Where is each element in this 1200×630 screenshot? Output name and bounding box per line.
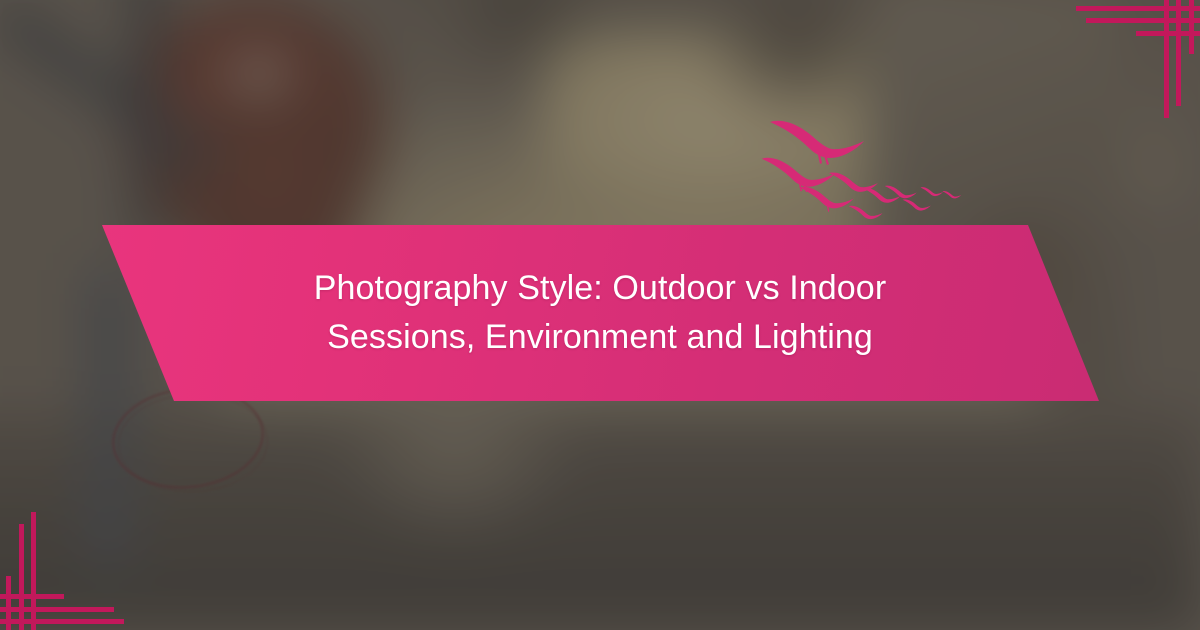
corner-lines-top-right [1060,0,1200,118]
banner-parallelogram [0,225,1200,401]
title-banner: Photography Style: Outdoor vs Indoor Ses… [0,225,1200,401]
bird-icon [885,186,917,199]
deco-line-v3 [1189,0,1194,54]
corner-lines-bottom-left [0,512,140,630]
bird-icon [770,121,864,165]
bird-icon [942,191,961,198]
bird-icon [799,187,854,212]
deco-line-v1 [31,512,36,630]
bird-icon [920,187,943,196]
deco-line-h1 [1076,6,1200,11]
bird-icon [903,199,931,210]
deco-line-h2 [1086,18,1200,23]
deco-line-v1 [1164,0,1169,118]
bird-icon [849,206,883,219]
bird-icon [762,158,835,193]
deco-line-v3 [6,576,11,630]
bird-flock-icon [760,112,1010,228]
deco-line-h2 [0,607,114,612]
deco-line-v2 [1176,0,1181,106]
deco-line-v2 [19,524,24,630]
banner-canvas: Photography Style: Outdoor vs Indoor Ses… [0,0,1200,630]
